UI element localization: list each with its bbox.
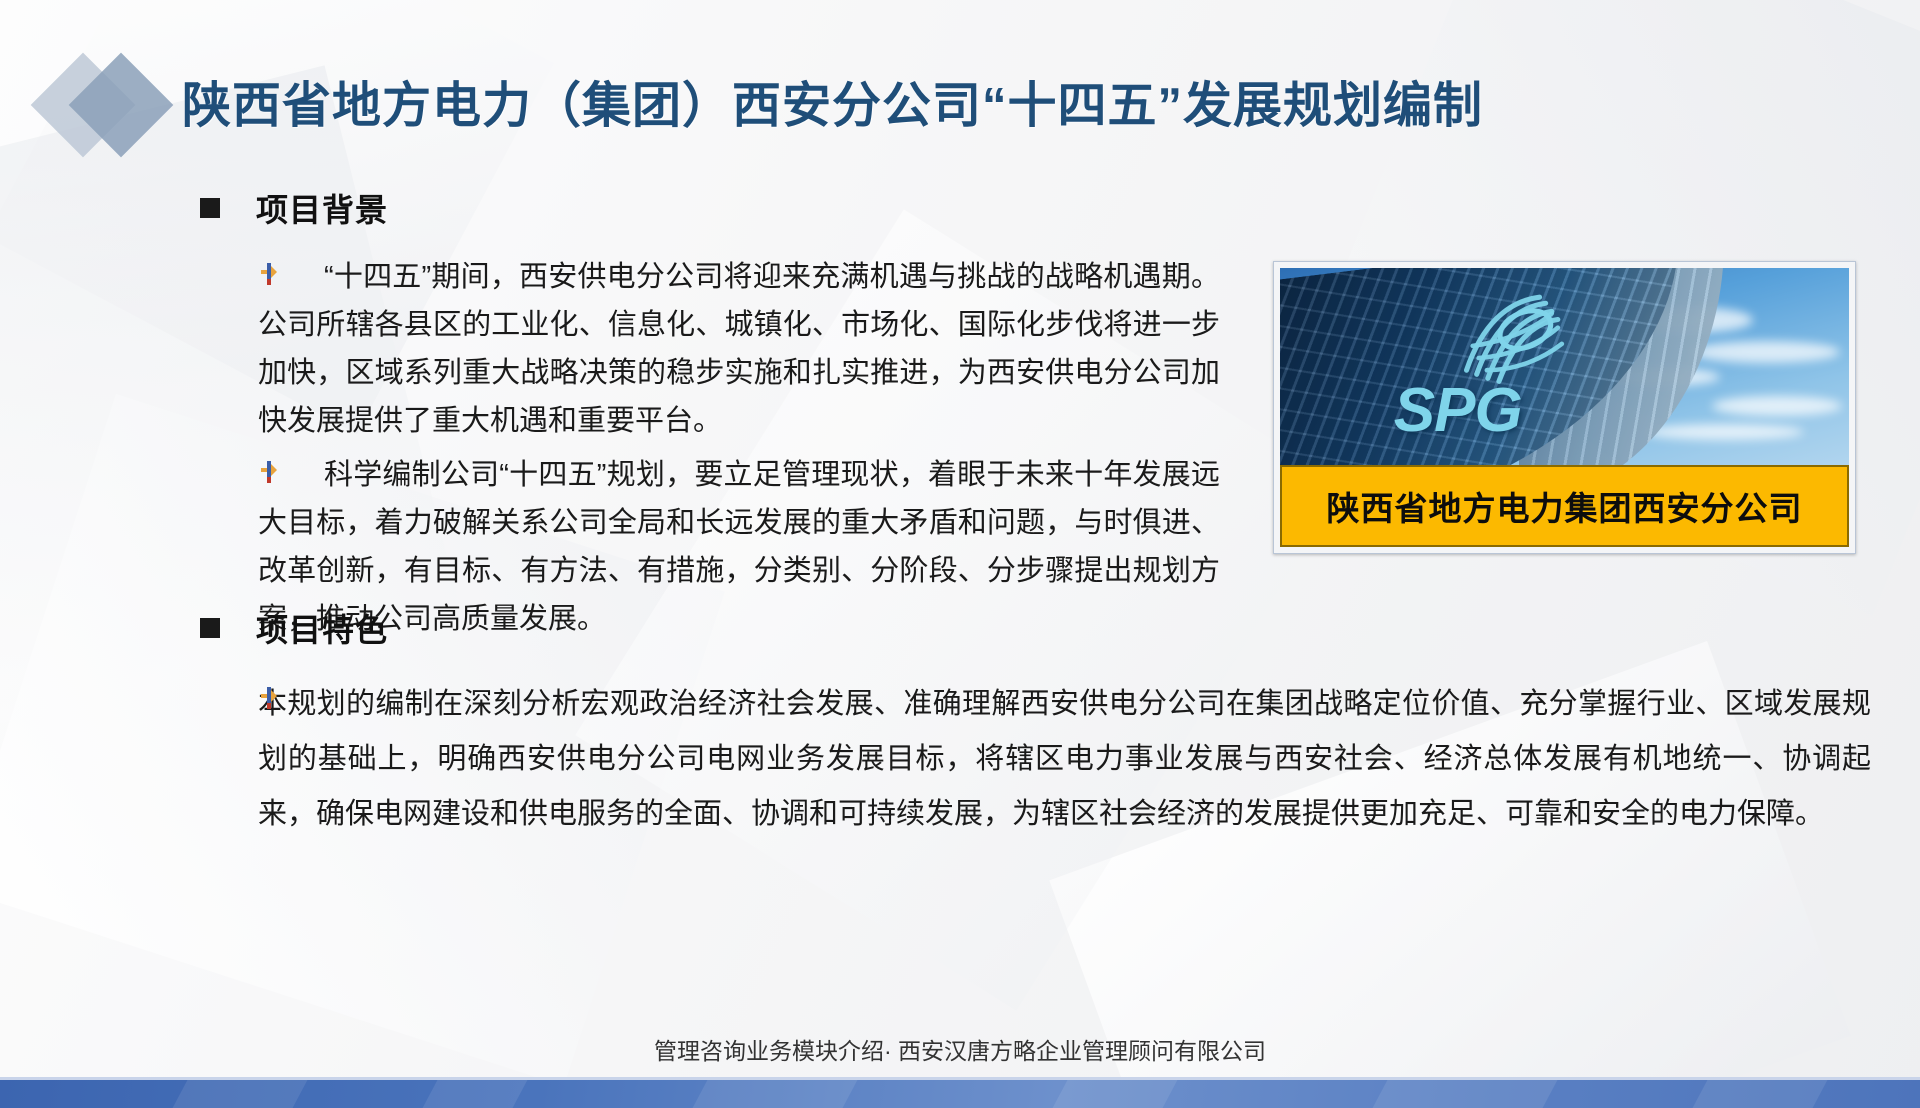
bar-facet <box>1373 1080 1558 1108</box>
cloud-shape <box>1690 341 1840 363</box>
bar-facet <box>1053 1080 1178 1108</box>
paragraph: “十四五”期间，西安供电分公司将迎来充满机遇与挑战的战略机遇期。公司所辖各县区的… <box>258 253 1220 445</box>
page-title: 陕西省地方电力（集团）西安分公司“十四五”发展规划编制 <box>182 66 1483 137</box>
paragraph-text: 本规划的编制在深刻分析宏观政治经济社会发展、准确理解西安供电分公司在集团战略定位… <box>258 688 1871 830</box>
bottom-accent-bar <box>0 1077 1920 1108</box>
footer-note: 管理咨询业务模块介绍· 西安汉唐方略企业管理顾问有限公司 <box>0 1032 1920 1066</box>
slide-canvas: 陕西省地方电力（集团）西安分公司“十四五”发展规划编制 项目背景 “十四五”期间… <box>0 0 1920 1108</box>
arrow-bullet-icon <box>258 261 280 287</box>
bar-facet <box>693 1080 858 1108</box>
slide-body: 项目背景 “十四五”期间，西安供电分公司将迎来充满机遇与挑战的战略机遇期。公司所… <box>0 185 1920 253</box>
photo-inner: SPG 陕西省地方电力集团西安分公司 <box>1280 268 1849 547</box>
section-header-project-features: 项目特色 <box>200 605 1920 651</box>
arrow-bullet-icon <box>258 459 280 485</box>
spg-headquarters-building-photo: SPG 陕西省地方电力集团西安分公司 <box>1273 261 1856 554</box>
project-features-section: 项目特色 本规划的编制在深刻分析宏观政治经济社会发展、准确理解西安供电分公司在集… <box>0 605 1920 842</box>
arrow-bullet-icon <box>258 685 280 711</box>
spg-wordmark: SPG <box>1394 380 1522 442</box>
photo-caption-bar: 陕西省地方电力集团西安分公司 <box>1280 465 1849 547</box>
paragraph-text: “十四五”期间，西安供电分公司将迎来充满机遇与挑战的战略机遇期。公司所辖各县区的… <box>258 261 1220 437</box>
double-diamond-logo-icon <box>44 52 184 160</box>
paragraph: 本规划的编制在深刻分析宏观政治经济社会发展、准确理解西安供电分公司在集团战略定位… <box>258 677 1871 842</box>
bar-facet <box>423 1080 528 1108</box>
photo-caption-text: 陕西省地方电力集团西安分公司 <box>1327 482 1803 530</box>
project-background-text-column: “十四五”期间，西安供电分公司将迎来充满机遇与挑战的战略机遇期。公司所辖各县区的… <box>258 253 1220 643</box>
slide-header: 陕西省地方电力（集团）西安分公司“十四五”发展规划编制 <box>0 0 1920 185</box>
bar-facet <box>173 1080 308 1108</box>
section-title-label: 项目特色 <box>256 605 388 651</box>
square-bullet-icon <box>200 618 220 638</box>
square-bullet-icon <box>200 198 220 218</box>
bar-facet <box>1693 1080 1828 1108</box>
section-header-project-background: 项目背景 <box>200 185 1920 231</box>
section-title-label: 项目背景 <box>256 185 388 231</box>
